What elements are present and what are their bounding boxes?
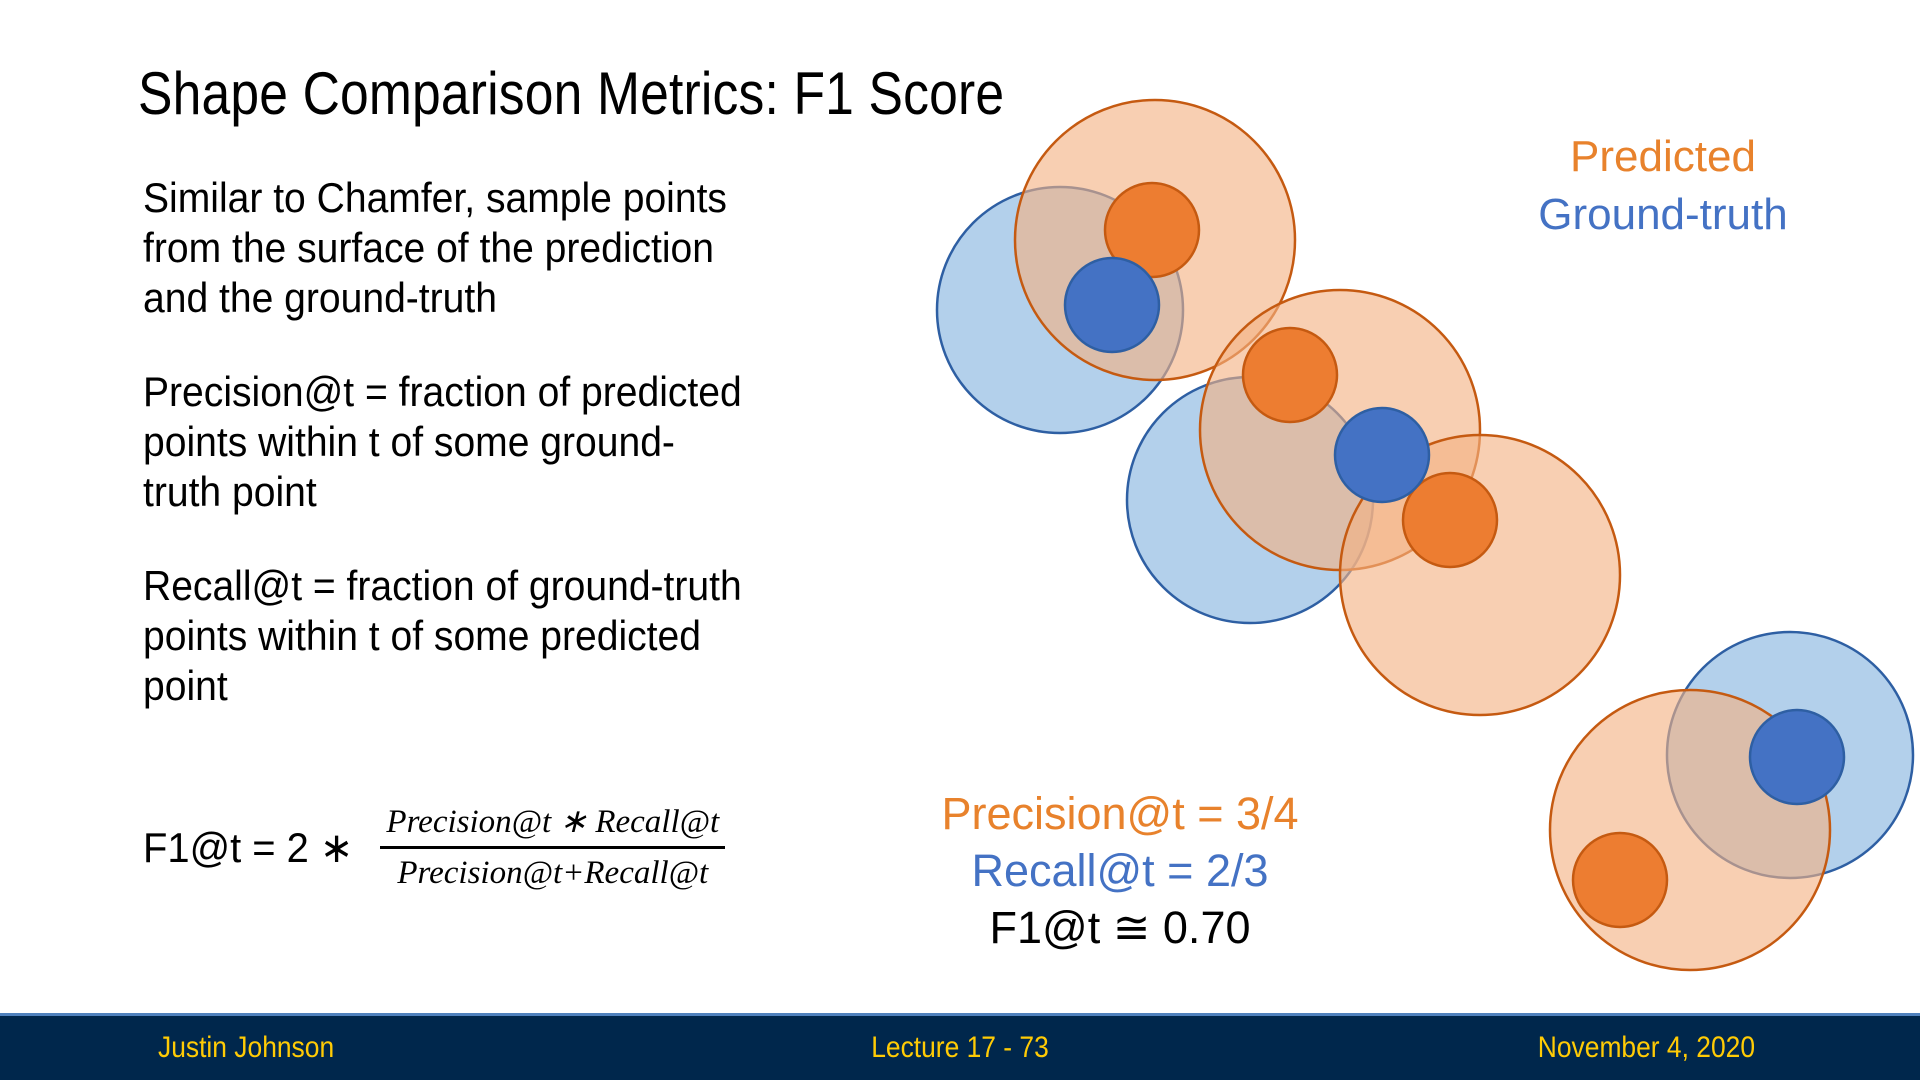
footer-date: November 4, 2020 [1538, 1031, 1755, 1065]
predicted-point [1105, 183, 1199, 277]
metric-recall: Recall@t = 2/3 [900, 842, 1340, 899]
groundtruth-point [1750, 710, 1844, 804]
page-title: Shape Comparison Metrics: F1 Score [138, 58, 1004, 130]
legend: Predicted Ground-truth [1498, 128, 1828, 244]
metrics-block: Precision@t = 3/4 Recall@t = 2/3 F1@t ≅ … [900, 785, 1340, 956]
groundtruth-point-group [1065, 258, 1844, 804]
predicted-point [1403, 473, 1497, 567]
slide-canvas: Shape Comparison Metrics: F1 Score Simil… [0, 0, 1920, 1080]
f1-formula: F1@t = 2 ∗ Precision@t ∗ Recall@t Precis… [143, 800, 725, 895]
groundtruth-ball [1667, 632, 1913, 878]
legend-item-predicted: Predicted [1498, 128, 1828, 186]
groundtruth-point [1335, 408, 1429, 502]
predicted-ball [1015, 100, 1295, 380]
fraction-numerator: Precision@t ∗ Recall@t [380, 800, 725, 846]
paragraph-precision: Precision@t = fraction of predicted poin… [143, 367, 878, 517]
formula-fraction: Precision@t ∗ Recall@t Precision@t+Recal… [380, 800, 725, 895]
groundtruth-ball-group [937, 187, 1913, 878]
predicted-point [1243, 328, 1337, 422]
footer-author: Justin Johnson [158, 1031, 334, 1065]
predicted-ball [1550, 690, 1830, 970]
predicted-ball [1340, 435, 1620, 715]
slide-footer: Justin Johnson Lecture 17 - 73 November … [0, 1013, 1920, 1080]
metric-precision: Precision@t = 3/4 [900, 785, 1340, 842]
predicted-ball [1200, 290, 1480, 570]
groundtruth-ball [1127, 377, 1373, 623]
predicted-point [1573, 833, 1667, 927]
formula-left-side: F1@t = 2 ∗ [143, 823, 369, 873]
body-text-block: Similar to Chamfer, sample points from t… [143, 173, 933, 755]
groundtruth-ball [937, 187, 1183, 433]
groundtruth-point [1065, 258, 1159, 352]
metric-f1: F1@t ≅ 0.70 [900, 899, 1340, 956]
paragraph-chamfer: Similar to Chamfer, sample points from t… [143, 173, 878, 323]
legend-item-ground-truth: Ground-truth [1498, 186, 1828, 244]
paragraph-recall: Recall@t = fraction of ground-truth poin… [143, 561, 878, 711]
fraction-denominator: Precision@t+Recall@t [391, 849, 714, 895]
footer-lecture-number: Lecture 17 - 73 [871, 1031, 1049, 1065]
